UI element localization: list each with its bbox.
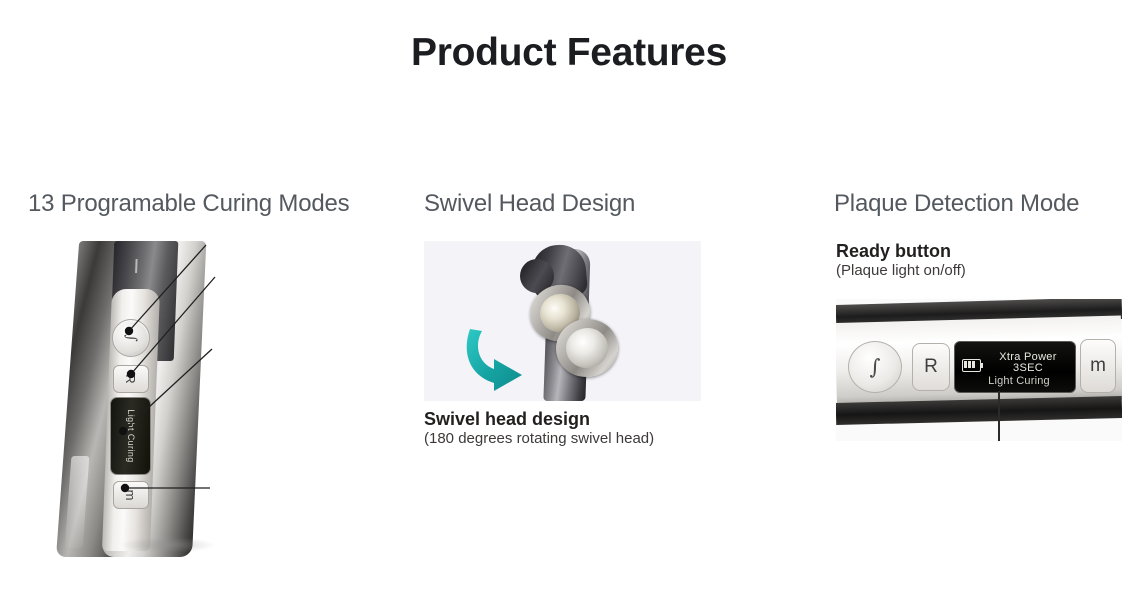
plaque-callout-line	[998, 391, 1000, 441]
page-title: Product Features	[0, 31, 1138, 75]
ready-caption-title: Ready button	[836, 241, 1126, 262]
swivel-lens-lower-glass	[563, 325, 610, 370]
product-features-page: Product Features 13 Programable Curing M…	[0, 0, 1138, 604]
feature-heading-swivel-head: Swivel Head Design	[424, 190, 714, 219]
plaque-m-button: m	[1080, 339, 1116, 393]
swivel-caption-title: Swivel head design	[424, 409, 714, 430]
feature-heading-plaque-detection: Plaque Detection Mode	[834, 190, 1124, 219]
plaque-r-button: R	[912, 343, 950, 391]
swivel-head-caption: Swivel head design (180 degrees rotating…	[424, 409, 714, 449]
feature-heading-curing-modes: 13 Programable Curing Modes	[28, 190, 408, 219]
ready-caption-subtitle: (Plaque light on/off)	[836, 262, 1126, 281]
plaque-detection-figure: Ready button (Plaque light on/off) ∫ R X…	[834, 241, 1124, 456]
swivel-caption-subtitle: (180 degrees rotating swivel head)	[424, 430, 714, 449]
ready-button-caption: Ready button (Plaque light on/off)	[836, 241, 1126, 281]
plaque-j-button: ∫	[848, 341, 902, 393]
swivel-head-image	[424, 241, 701, 401]
callout-lines	[28, 241, 408, 561]
plaque-display: Xtra Power 3SEC Light Curing	[954, 341, 1076, 393]
rotation-arrow-icon	[460, 325, 556, 391]
swivel-head-figure: Swivel head design (180 degrees rotating…	[424, 241, 714, 456]
feature-column-curing-modes: 13 Programable Curing Modes ∫ R Light Cu…	[28, 190, 408, 561]
feature-column-plaque-detection: Plaque Detection Mode Ready button (Plaq…	[834, 190, 1124, 456]
display-line-3: Light Curing	[965, 375, 1073, 387]
display-line-2: 3SEC	[983, 362, 1073, 374]
curing-modes-figure: ∫ R Light Curing m	[28, 241, 408, 561]
battery-icon	[962, 359, 981, 372]
feature-column-swivel-head: Swivel Head Design	[424, 190, 714, 456]
plaque-device-image: ∫ R Xtra Power 3SEC Light Curing m	[836, 299, 1122, 441]
